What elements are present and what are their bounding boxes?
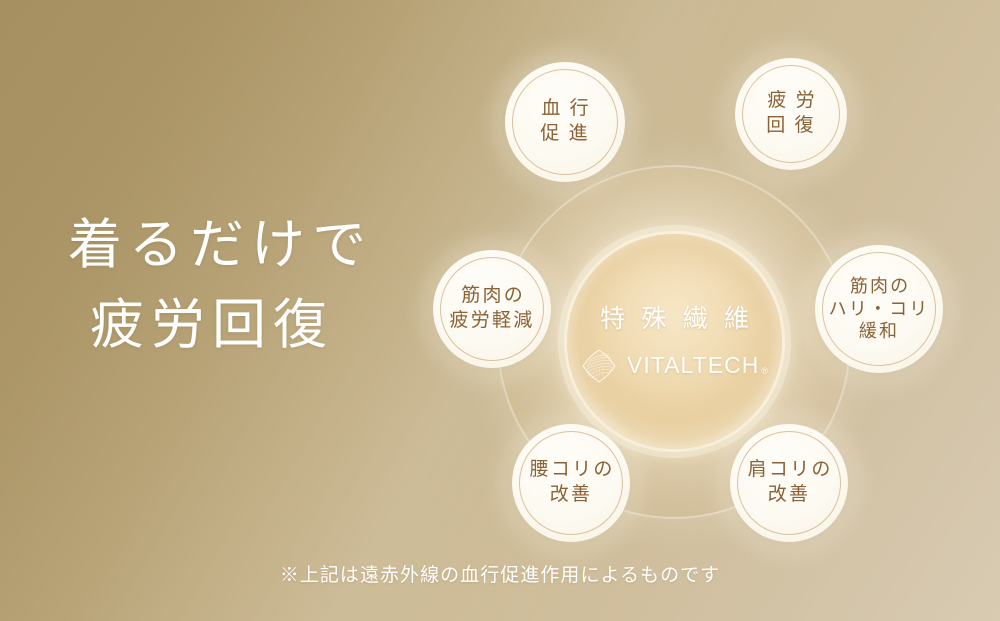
benefit-label: 腰コリの 改善 [527,458,614,507]
benefit-bubble-shoulder[interactable]: 肩コリの 改善 [730,424,848,542]
benefit-label: 肩コリの 改善 [745,458,832,507]
benefit-bubble-fatigue-recovery[interactable]: 疲 労 回 復 [735,58,847,170]
benefit-bubble-blood-circulation[interactable]: 血 行 促 進 [505,62,625,182]
disclaimer-note: ※上記は遠赤外線の血行促進作用によるものです [0,560,1000,587]
brand-name-text: VITALTECH [627,352,759,379]
benefit-label: 血 行 促 進 [539,97,591,146]
brand-name: VITALTECH ® [627,352,769,379]
benefit-label: 疲 労 回 復 [765,89,817,138]
registered-trademark-icon: ® [761,366,769,376]
benefit-bubble-muscle-fatigue[interactable]: 筋肉の 疲労軽減 [433,250,551,368]
benefit-bubble-lower-back[interactable]: 腰コリの 改善 [512,424,630,542]
brand-lockup: VITALTECH ® [580,347,769,385]
headline-line-1: 着るだけで [62,206,422,286]
benefit-label: 筋肉の 疲労軽減 [449,284,534,333]
benefit-bubble-muscle-stiffness[interactable]: 筋肉の ハリ・コリ 緩和 [815,245,943,373]
benefits-diagram: 特 殊 繊 維 [390,18,990,578]
page-title: 着るだけで 疲労回復 [62,206,422,366]
headline-line-2: 疲労回復 [62,286,422,366]
core-title: 特 殊 繊 維 [595,299,754,335]
promo-banner: 着るだけで 疲労回復 特 殊 繊 維 [0,0,1000,621]
diamond-weave-logo-icon [580,347,618,385]
core-content: 特 殊 繊 維 [567,234,782,449]
benefit-label: 筋肉の ハリ・コリ 緩和 [829,275,930,343]
